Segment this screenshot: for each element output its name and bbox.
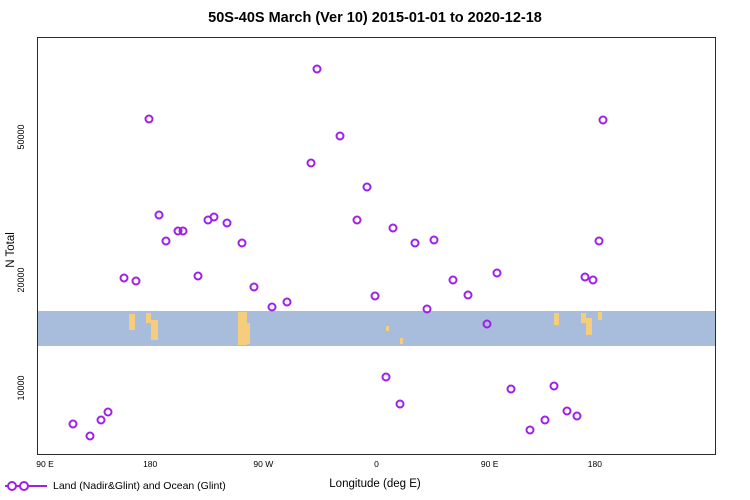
data-point [382,372,391,381]
legend: Land (Nadir&Glint) and Ocean (Glint) [5,480,226,492]
data-point [411,238,420,247]
land-patch [400,338,403,344]
land-patch [129,314,135,330]
data-point [222,218,231,227]
data-point [549,381,558,390]
x-axis-tick [38,454,39,455]
land-patch [598,312,602,321]
data-point [313,64,322,73]
x-axis-tick-label: 90 E [481,459,499,469]
data-point [492,269,501,278]
data-point [540,415,549,424]
y-axis-tick-label: 50000 [16,125,26,150]
land-patch [151,320,158,341]
y-axis-tick-label: 20000 [16,267,26,292]
data-point [154,211,163,220]
x-axis-tick [604,454,605,455]
data-point [563,406,572,415]
data-point [506,384,515,393]
chart-root: 50S-40S March (Ver 10) 2015-01-01 to 202… [0,0,750,500]
data-point [448,276,457,285]
x-axis-tick-label: 180 [143,459,157,469]
data-point [237,238,246,247]
data-point [396,399,405,408]
data-point [144,114,153,123]
data-point [422,304,431,313]
y-axis-title: N Total [2,232,20,268]
x-axis-tick-label: 90 W [253,459,273,469]
data-point [69,419,78,428]
y-axis-tick [37,138,38,139]
data-point [85,431,94,440]
land-patch [244,323,250,344]
data-point [193,272,202,281]
data-point [388,224,397,233]
legend-label: Land (Nadir&Glint) and Ocean (Glint) [53,480,226,492]
data-point [430,235,439,244]
x-axis-tick [264,454,265,455]
data-point [282,297,291,306]
land-patch [586,318,592,335]
data-point [132,276,141,285]
ocean-band [38,311,715,346]
data-point [464,290,473,299]
data-point [210,212,219,221]
data-point [353,216,362,225]
y-axis-tick [37,281,38,282]
data-point [250,283,259,292]
data-point [96,415,105,424]
x-axis-tick-label: 180 [588,459,602,469]
data-point [482,319,491,328]
data-point [104,408,113,417]
x-axis-tick [491,454,492,455]
land-patch [386,326,389,330]
y-axis-title-text: N Total [5,232,17,268]
x-axis-tick-label: 0 [374,459,379,469]
data-point [306,159,315,168]
data-point [573,412,582,421]
x-axis-tick [378,454,379,455]
legend-marker-icon [5,480,47,492]
data-point [370,291,379,300]
data-point [588,276,597,285]
data-point [335,132,344,141]
data-point [525,425,534,434]
data-point [363,183,372,192]
plot-area [37,37,716,455]
land-patch [554,313,559,325]
y-axis-tick [37,389,38,390]
y-axis-tick-label: 10000 [16,375,26,400]
data-point [119,273,128,282]
data-point [162,236,171,245]
legend-circle-icon [19,481,29,491]
data-point [267,303,276,312]
data-point [594,237,603,246]
data-point [598,116,607,125]
x-axis-tick-label: 90 E [36,459,54,469]
x-axis-tick [151,454,152,455]
chart-title: 50S-40S March (Ver 10) 2015-01-01 to 202… [0,10,750,26]
legend-circle-icon [7,481,17,491]
data-point [178,227,187,236]
